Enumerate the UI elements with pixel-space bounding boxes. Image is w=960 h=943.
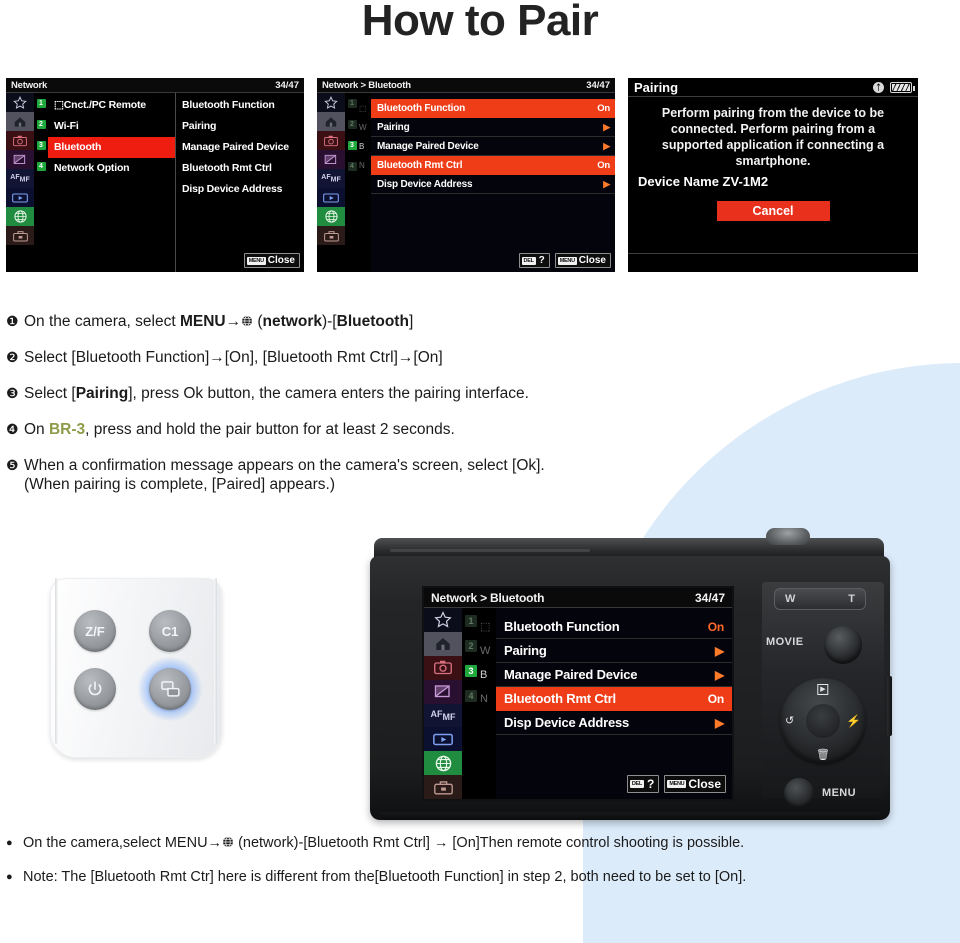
self-timer-icon[interactable]: ↺ xyxy=(785,716,794,726)
close-label: Close xyxy=(268,255,295,266)
camera-menu-header: Network > Bluetooth 34/47 xyxy=(424,588,732,608)
star-icon[interactable] xyxy=(6,93,34,112)
row-pairing[interactable]: Pairing ▶ xyxy=(371,118,615,137)
playback-icon[interactable] xyxy=(317,188,345,207)
toolbox-icon[interactable] xyxy=(424,775,462,799)
focus-icon[interactable]: AFMF xyxy=(6,169,34,188)
sub-tab-1[interactable]: 1 xyxy=(465,615,477,627)
camera-menu: Network > Bluetooth 34/47 xyxy=(424,588,732,799)
chevron-right-icon: ▶ xyxy=(603,141,610,152)
screenshot-bluetooth-menu: Network > Bluetooth 34/47 AFMF xyxy=(317,78,615,272)
chevron-right-icon: ▶ xyxy=(603,179,610,190)
sub-tab-2[interactable]: 2 xyxy=(465,640,477,652)
step-1: ❶ On the camera, select MENU→ (network)-… xyxy=(6,312,706,331)
playback-icon[interactable] xyxy=(6,188,34,207)
sub-tab-numbers[interactable]: 1 2 3 4 xyxy=(345,93,359,272)
instruction-steps: ❶ On the camera, select MENU→ (network)-… xyxy=(6,312,706,511)
exposure-icon[interactable] xyxy=(317,150,345,169)
help-label: ? xyxy=(646,777,654,791)
stub: B xyxy=(480,663,496,687)
row-disp-device-address[interactable]: Disp Device Address ▶ xyxy=(371,175,615,194)
step-text: When a confirmation message appears on t… xyxy=(24,456,706,494)
camera-top-detail xyxy=(390,549,590,552)
home-icon[interactable] xyxy=(317,112,345,131)
close-label: Close xyxy=(688,777,721,791)
bluetooth-settings-list[interactable]: Bluetooth Function On Pairing ▶ Manage P… xyxy=(371,93,615,272)
remote-edge-left xyxy=(55,578,58,744)
camera-icon[interactable] xyxy=(317,131,345,150)
note-text: On the camera,select MENU→ (network)-[Bl… xyxy=(23,833,744,853)
list-item[interactable]: Wi-Fi xyxy=(48,116,175,137)
row-value: On xyxy=(597,103,610,114)
parent-label-stubs: ⬚ W B N xyxy=(359,93,371,272)
menu-key-glyph: MENU xyxy=(667,780,686,788)
list-item[interactable]: ⬚Cnct./PC Remote xyxy=(48,95,175,116)
sub-tab-2[interactable]: 2 xyxy=(348,120,357,129)
preview-item: Pairing xyxy=(182,116,304,137)
preview-item: Manage Paired Device xyxy=(182,137,304,158)
network-item-list[interactable]: ⬚Cnct./PC Remote Wi-Fi Bluetooth Network… xyxy=(48,93,176,272)
note-1: ● On the camera,select MENU→ (network)-[… xyxy=(6,833,956,853)
home-icon[interactable] xyxy=(424,632,462,656)
control-wheel[interactable]: ▶ ↺ ⚡ 🗑 xyxy=(780,678,866,764)
camera-base xyxy=(380,812,880,820)
step-4: ❹ On BR-3, press and hold the pair butto… xyxy=(6,420,706,439)
star-icon[interactable] xyxy=(317,93,345,112)
bluetooth-icon: ᛏ xyxy=(873,82,884,93)
sub-tab-4[interactable]: 4 xyxy=(37,162,46,171)
delete-icon[interactable]: 🗑 xyxy=(816,750,830,760)
pairing-title: Pairing xyxy=(634,80,678,95)
home-icon[interactable] xyxy=(6,112,34,131)
close-button[interactable]: MENU Close xyxy=(664,775,726,793)
network-icon[interactable] xyxy=(317,207,345,226)
page-counter: 34/47 xyxy=(275,80,299,91)
row-manage-paired-device[interactable]: Manage Paired Device ▶ xyxy=(496,663,732,687)
step-number: ❹ xyxy=(6,420,24,439)
power-button[interactable] xyxy=(74,668,116,710)
delete-key-glyph: DEL xyxy=(522,257,536,265)
menu-label: MENU xyxy=(822,787,856,799)
remote-control-br3: Z/F C1 xyxy=(50,578,222,758)
help-button[interactable]: DEL ? xyxy=(627,775,659,793)
battery-icon xyxy=(890,82,912,93)
pairing-header: Pairing ᛏ xyxy=(628,78,918,97)
step-text: Select [Pairing], press Ok button, the c… xyxy=(24,384,706,403)
bullet-dot-icon: ● xyxy=(6,833,23,853)
star-icon[interactable] xyxy=(424,608,462,632)
step-2: ❷ Select [Bluetooth Function]→[On], [Blu… xyxy=(6,348,706,367)
breadcrumb: Network > Bluetooth xyxy=(431,591,544,605)
camera-side-grip xyxy=(887,676,892,736)
c1-button[interactable]: C1 xyxy=(149,610,191,652)
pairing-device-name: Device Name ZV-1M2 xyxy=(628,169,918,189)
stub: ⬚ xyxy=(359,99,371,118)
stub: W xyxy=(480,639,496,663)
shutter-button[interactable] xyxy=(766,528,810,545)
camera-icon[interactable] xyxy=(424,656,462,680)
flash-icon[interactable]: ⚡ xyxy=(846,716,861,726)
page-counter: 34/47 xyxy=(695,591,725,605)
close-button[interactable]: MENU Close xyxy=(555,253,611,268)
note-text: Note: The [Bluetooth Rmt Ctr] here is di… xyxy=(23,867,746,887)
stub: ⬚ xyxy=(480,615,496,639)
tab-strip[interactable]: AFMF xyxy=(6,93,34,272)
step-text: On the camera, select MENU→ (network)-[B… xyxy=(24,312,706,331)
row-bluetooth-function[interactable]: Bluetooth Function On xyxy=(496,615,732,639)
preview-item: Disp Device Address xyxy=(182,179,304,200)
step-number: ❸ xyxy=(6,384,24,403)
exposure-icon[interactable] xyxy=(424,680,462,704)
movie-label: MOVIE xyxy=(766,636,803,648)
exposure-icon[interactable] xyxy=(6,150,34,169)
zf-button[interactable]: Z/F xyxy=(74,610,116,652)
menu-key-glyph: MENU xyxy=(558,257,577,265)
step-number: ❺ xyxy=(6,456,24,494)
row-manage-paired-device[interactable]: Manage Paired Device ▶ xyxy=(371,137,615,156)
sub-tab-1[interactable]: 1 xyxy=(37,99,46,108)
sub-tab-3[interactable]: 3 xyxy=(37,141,46,150)
page-title: How to Pair xyxy=(0,0,960,46)
stub: N xyxy=(359,156,371,175)
network-icon[interactable] xyxy=(6,207,34,226)
sub-tab-3[interactable]: 3 xyxy=(348,141,357,150)
stub: B xyxy=(359,137,371,156)
chevron-right-icon: ▶ xyxy=(715,668,724,682)
zoom-rocker[interactable]: W T xyxy=(774,588,866,610)
focus-icon[interactable]: AFMF xyxy=(424,704,462,728)
zoom-wide-label: W xyxy=(785,593,795,605)
network-menu-header: Network 34/47 xyxy=(6,78,304,93)
bottom-notes: ● On the camera,select MENU→ (network)-[… xyxy=(6,833,956,901)
row-bluetooth-function[interactable]: Bluetooth Function On xyxy=(371,99,615,118)
screenshot-network-menu: Network 34/47 AFMF xyxy=(6,78,304,272)
remote-edge-right xyxy=(214,578,217,744)
step-number: ❶ xyxy=(6,312,24,331)
stub: N xyxy=(480,687,496,711)
playback-icon[interactable] xyxy=(424,727,462,751)
movie-record-button[interactable] xyxy=(824,626,862,664)
help-button[interactable]: DEL ? xyxy=(519,253,550,268)
step-3: ❸ Select [Pairing], press Ok button, the… xyxy=(6,384,706,403)
sub-tab-3[interactable]: 3 xyxy=(465,665,477,677)
list-item-bluetooth[interactable]: Bluetooth xyxy=(48,137,175,158)
divider xyxy=(628,253,918,254)
bluetooth-settings-list[interactable]: Bluetooth Function On Pairing ▶ Manage P… xyxy=(496,608,732,799)
bluetooth-menu-header: Network > Bluetooth 34/47 xyxy=(317,78,615,93)
sub-tab-numbers[interactable]: 1 2 3 4 xyxy=(462,608,480,799)
list-item[interactable]: Network Option xyxy=(48,158,175,179)
note-2: ● Note: The [Bluetooth Rmt Ctr] here is … xyxy=(6,867,956,887)
chevron-right-icon: ▶ xyxy=(603,122,610,133)
network-preview-list: Bluetooth Function Pairing Manage Paired… xyxy=(176,93,304,272)
zoom-tele-label: T xyxy=(848,593,855,605)
camera-icon[interactable] xyxy=(6,131,34,150)
row-label: Pairing xyxy=(377,122,410,133)
pairing-message: Perform pairing from the device to be co… xyxy=(628,97,918,169)
camera-lcd-screen: Network > Bluetooth 34/47 xyxy=(422,586,734,801)
row-label: Disp Device Address xyxy=(377,179,472,190)
row-label: Manage Paired Device xyxy=(377,141,479,152)
preview-item: Bluetooth Function xyxy=(182,95,304,116)
row-value: On xyxy=(708,692,724,706)
row-label: Disp Device Address xyxy=(504,715,629,730)
cancel-button[interactable]: Cancel xyxy=(717,201,830,221)
row-bluetooth-rmt-ctrl[interactable]: Bluetooth Rmt Ctrl On xyxy=(496,687,732,711)
tab-strip[interactable]: AFMF xyxy=(424,608,462,799)
screenshot-pairing-dialog: Pairing ᛏ Perform pairing from the devic… xyxy=(628,78,918,272)
camera-body: Network > Bluetooth 34/47 xyxy=(370,556,890,820)
row-disp-device-address[interactable]: Disp Device Address ▶ xyxy=(496,711,732,735)
step-text: On BR-3, press and hold the pair button … xyxy=(24,420,706,439)
step-5: ❺ When a confirmation message appears on… xyxy=(6,456,706,494)
sub-tab-4[interactable]: 4 xyxy=(348,162,357,171)
focus-icon[interactable]: AFMF xyxy=(317,169,345,188)
row-bluetooth-rmt-ctrl[interactable]: Bluetooth Rmt Ctrl On xyxy=(371,156,615,175)
network-icon[interactable] xyxy=(424,751,462,775)
center-ok-button[interactable] xyxy=(806,704,840,738)
row-label: Manage Paired Device xyxy=(504,667,637,682)
toolbox-icon[interactable] xyxy=(317,226,345,245)
sub-tab-2[interactable]: 2 xyxy=(37,120,46,129)
sub-tab-4[interactable]: 4 xyxy=(465,690,477,702)
menu-button[interactable] xyxy=(784,778,814,808)
toolbox-icon[interactable] xyxy=(6,226,34,245)
preview-item: Bluetooth Rmt Ctrl xyxy=(182,158,304,179)
sub-tab-1[interactable]: 1 xyxy=(348,99,357,108)
close-label: Close xyxy=(579,255,606,266)
breadcrumb: Network xyxy=(11,80,47,91)
playback-icon[interactable]: ▶ xyxy=(817,684,828,695)
step-number: ❷ xyxy=(6,348,24,367)
breadcrumb: Network > Bluetooth xyxy=(322,80,411,91)
row-label: Pairing xyxy=(504,643,547,658)
stub: W xyxy=(359,118,371,137)
row-label: Bluetooth Function xyxy=(377,103,465,114)
chevron-right-icon: ▶ xyxy=(715,644,724,658)
row-label: Bluetooth Rmt Ctrl xyxy=(377,160,462,171)
row-value: On xyxy=(708,620,724,634)
menu-key-glyph: MENU xyxy=(247,257,266,265)
row-label: Bluetooth Function xyxy=(504,619,620,634)
help-label: ? xyxy=(538,255,545,266)
remote-shell xyxy=(50,578,222,758)
pair-button[interactable] xyxy=(149,668,191,710)
page-counter: 34/47 xyxy=(586,80,610,91)
tab-strip[interactable]: AFMF xyxy=(317,93,345,272)
step-text: Select [Bluetooth Function]→[On], [Bluet… xyxy=(24,348,706,367)
chevron-right-icon: ▶ xyxy=(715,716,724,730)
delete-key-glyph: DEL xyxy=(630,780,644,788)
parent-label-stubs: ⬚ W B N xyxy=(480,608,496,799)
pair-icon xyxy=(161,681,180,697)
row-value: On xyxy=(597,160,610,171)
camera-control-cluster: W T MOVIE ▶ ↺ ⚡ 🗑 MENU xyxy=(762,582,884,798)
bullet-dot-icon: ● xyxy=(6,867,23,887)
row-label: Bluetooth Rmt Ctrl xyxy=(504,691,616,706)
camera-zv1m2: Network > Bluetooth 34/47 xyxy=(366,538,894,826)
sub-tab-numbers[interactable]: 1 2 3 4 xyxy=(34,93,48,272)
row-pairing[interactable]: Pairing ▶ xyxy=(496,639,732,663)
close-button[interactable]: MENU Close xyxy=(244,253,300,268)
